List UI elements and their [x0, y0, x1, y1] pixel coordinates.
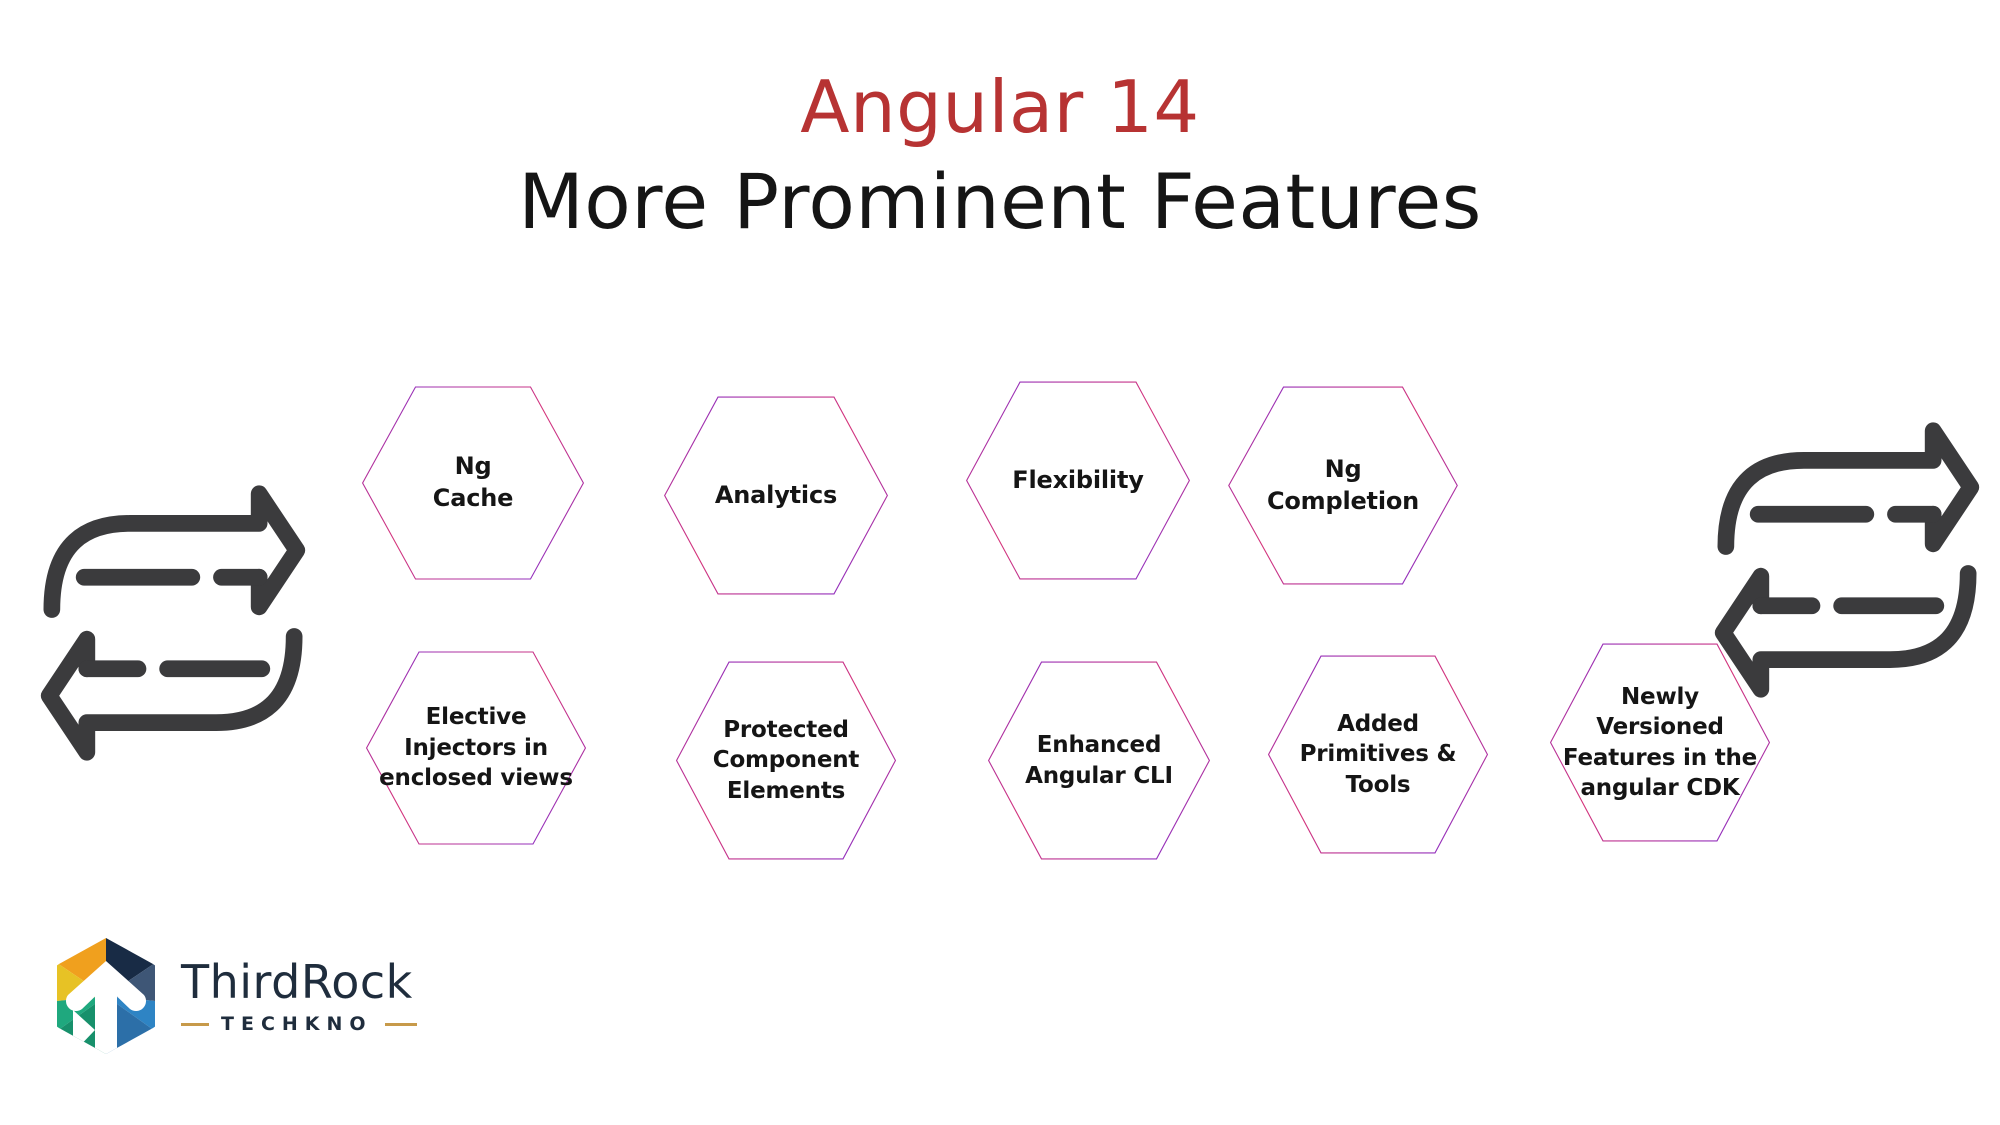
- exchange-arrows-icon-left: [38, 483, 308, 763]
- hexagon-ng-completion[interactable]: Ng Completion: [1224, 383, 1462, 588]
- hexagon-added-primitives-tools[interactable]: Added Primitives & Tools: [1264, 652, 1492, 857]
- logo-text-block: ThirdRock TECHKNO: [181, 959, 417, 1034]
- hexagon-analytics[interactable]: Analytics: [660, 393, 892, 598]
- hexagon-label: Ng Completion: [1224, 454, 1462, 517]
- hexagon-label: Elective Injectors in enclosed views: [362, 702, 590, 793]
- page-subtitle: More Prominent Features: [0, 160, 2000, 244]
- exchange-arrows-icon-right: [1712, 420, 1982, 700]
- hexagon-label: Ng Cache: [358, 451, 588, 514]
- hexagon-elective-injectors[interactable]: Elective Injectors in enclosed views: [362, 648, 590, 848]
- hexagon-flexibility[interactable]: Flexibility: [962, 378, 1194, 583]
- page-title: Angular 14: [0, 70, 2000, 146]
- company-logo: ThirdRock TECHKNO: [45, 935, 417, 1057]
- hexagon-label: Analytics: [660, 480, 892, 512]
- hexagon-label: Newly Versioned Features in the angular …: [1546, 682, 1774, 803]
- hexagon-label: Flexibility: [962, 465, 1194, 497]
- logo-wordmark: ThirdRock: [181, 959, 417, 1005]
- tagline-rule-left: [181, 1023, 209, 1026]
- tagline-rule-right: [385, 1023, 417, 1026]
- hexagon-enhanced-angular-cli[interactable]: Enhanced Angular CLI: [984, 658, 1214, 863]
- hexagon-protected-component-elements[interactable]: Protected Component Elements: [672, 658, 900, 863]
- thirdrock-logo-mark-icon: [45, 935, 167, 1057]
- title-block: Angular 14 More Prominent Features: [0, 70, 2000, 243]
- hexagon-ng-cache[interactable]: Ng Cache: [358, 383, 588, 583]
- hexagon-label: Protected Component Elements: [672, 715, 900, 806]
- logo-tagline-row: TECHKNO: [181, 1015, 417, 1034]
- hexagon-label: Added Primitives & Tools: [1264, 709, 1492, 800]
- logo-tagline: TECHKNO: [221, 1015, 373, 1034]
- hexagon-label: Enhanced Angular CLI: [984, 730, 1214, 791]
